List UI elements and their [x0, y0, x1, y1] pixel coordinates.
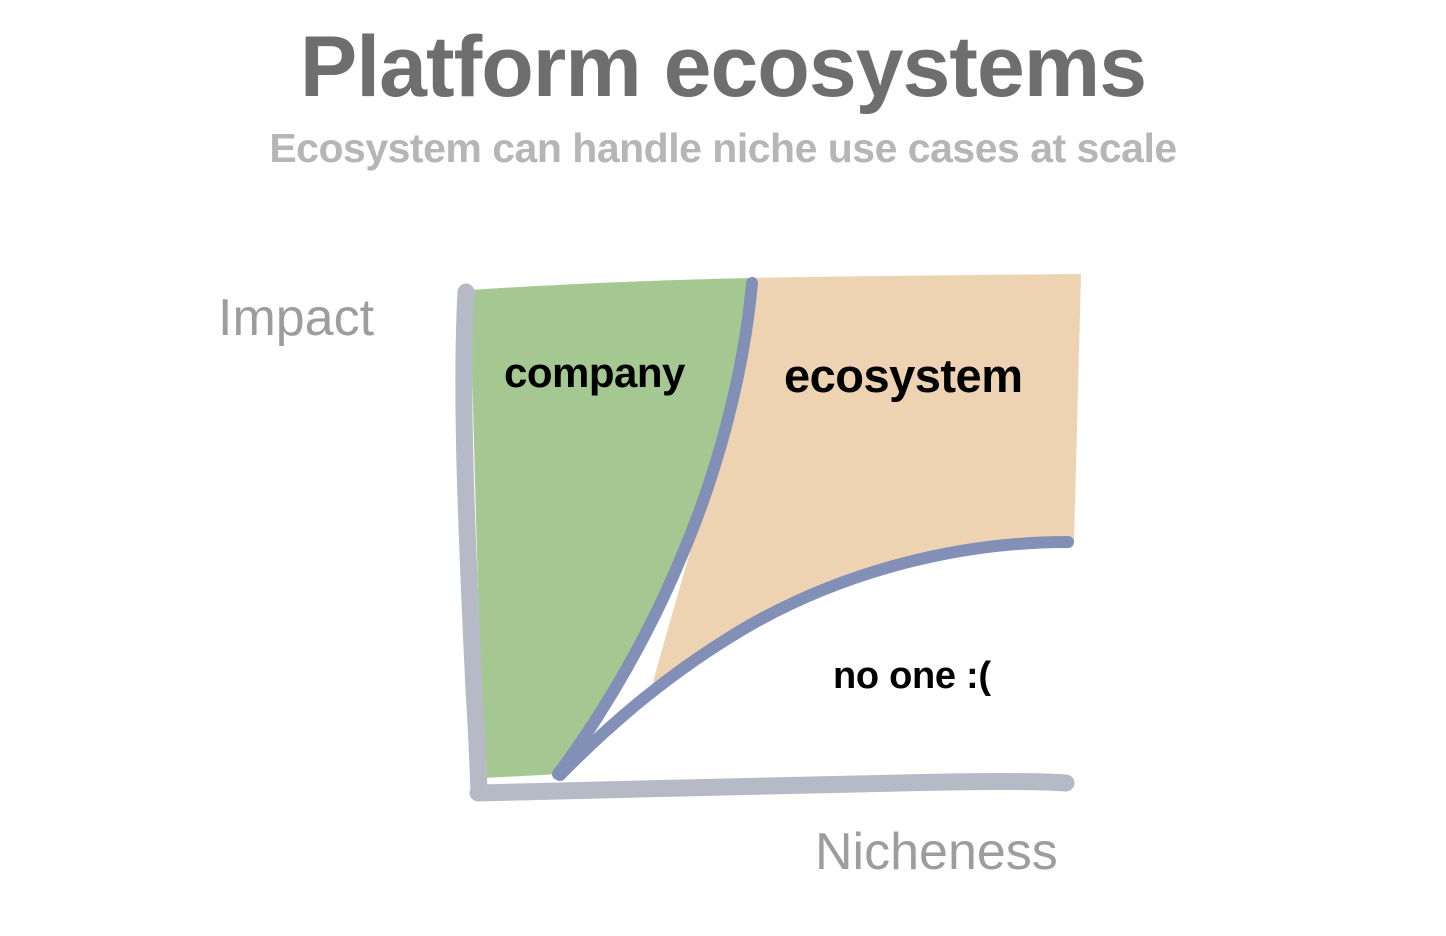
diagram-area: Impact Nicheness company ecosystem no on…: [0, 0, 1446, 936]
x-axis-label: Nicheness: [815, 826, 1058, 878]
y-axis-label: Impact: [218, 292, 374, 344]
region-label-company: company: [504, 352, 685, 394]
concept-chart-svg: [0, 0, 1446, 936]
slide-canvas: Platform ecosystems Ecosystem can handle…: [0, 0, 1446, 936]
region-label-ecosystem: ecosystem: [784, 352, 1023, 399]
region-label-no-one: no one :(: [833, 657, 991, 695]
x-axis-line: [478, 782, 1066, 794]
